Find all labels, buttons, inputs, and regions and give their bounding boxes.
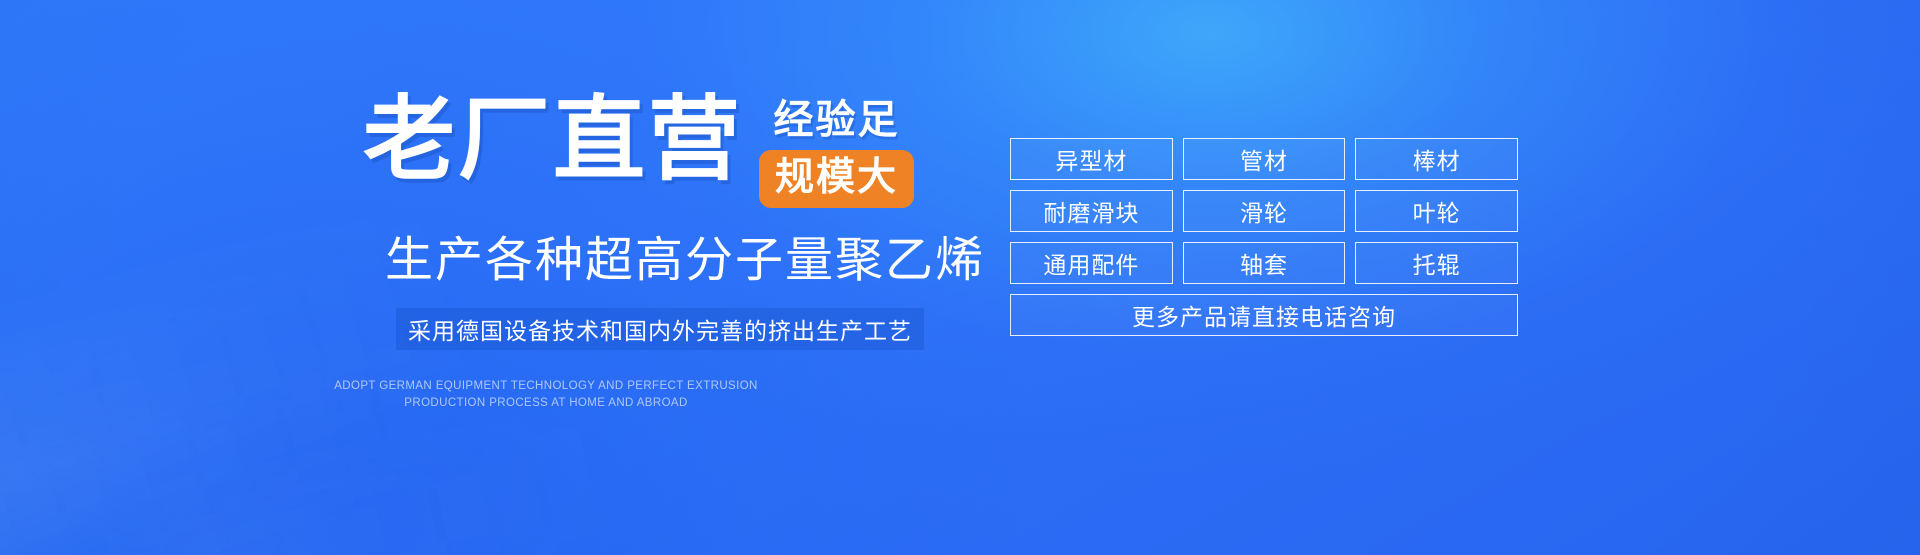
product-button-yixingcai[interactable]: 异型材 [1010,138,1173,180]
badge-scale: 规模大 [759,150,914,208]
product-button-guancai[interactable]: 管材 [1183,138,1346,180]
product-category-grid: 异型材 管材 棒材 耐磨滑块 滑轮 叶轮 通用配件 轴套 托辊 更多产品请直接电… [1010,138,1518,336]
badge-experience: 经验足 [766,98,908,142]
english-subtitle: ADOPT GERMAN EQUIPMENT TECHNOLOGY AND PE… [0,378,1092,412]
headline-main: 老厂直营 [363,94,743,186]
product-button-bangcai[interactable]: 棒材 [1355,138,1518,180]
english-subtitle-line-2: PRODUCTION PROCESS AT HOME AND ABROAD [0,395,1092,412]
promo-banner: 老厂直营 经验足 规模大 生产各种超高分子量聚乙烯 采用德国设备技术和国内外完善… [0,0,1920,555]
headline-badges: 经验足 规模大 [759,98,914,208]
product-row: 异型材 管材 棒材 [1010,138,1518,180]
product-button-tongyongpeijian[interactable]: 通用配件 [1010,242,1173,284]
product-row: 通用配件 轴套 托辊 [1010,242,1518,284]
product-button-yelun[interactable]: 叶轮 [1355,190,1518,232]
product-button-naimohuakuai[interactable]: 耐磨滑块 [1010,190,1173,232]
product-button-tuogun[interactable]: 托辊 [1355,242,1518,284]
headline-row: 老厂直营 经验足 规模大 [363,94,914,208]
product-row: 更多产品请直接电话咨询 [1010,294,1518,336]
product-button-zhoutao[interactable]: 轴套 [1183,242,1346,284]
product-button-hualun[interactable]: 滑轮 [1183,190,1346,232]
tagline-bar: 采用德国设备技术和国内外完善的挤出生产工艺 [396,308,924,350]
banner-copy-block: 老厂直营 经验足 规模大 生产各种超高分子量聚乙烯 采用德国设备技术和国内外完善… [0,0,1000,555]
sub-headline: 生产各种超高分子量聚乙烯 [385,237,985,285]
more-products-contact-button[interactable]: 更多产品请直接电话咨询 [1010,294,1518,336]
english-subtitle-line-1: ADOPT GERMAN EQUIPMENT TECHNOLOGY AND PE… [0,378,1092,395]
product-row: 耐磨滑块 滑轮 叶轮 [1010,190,1518,232]
tagline-text: 采用德国设备技术和国内外完善的挤出生产工艺 [408,312,912,346]
